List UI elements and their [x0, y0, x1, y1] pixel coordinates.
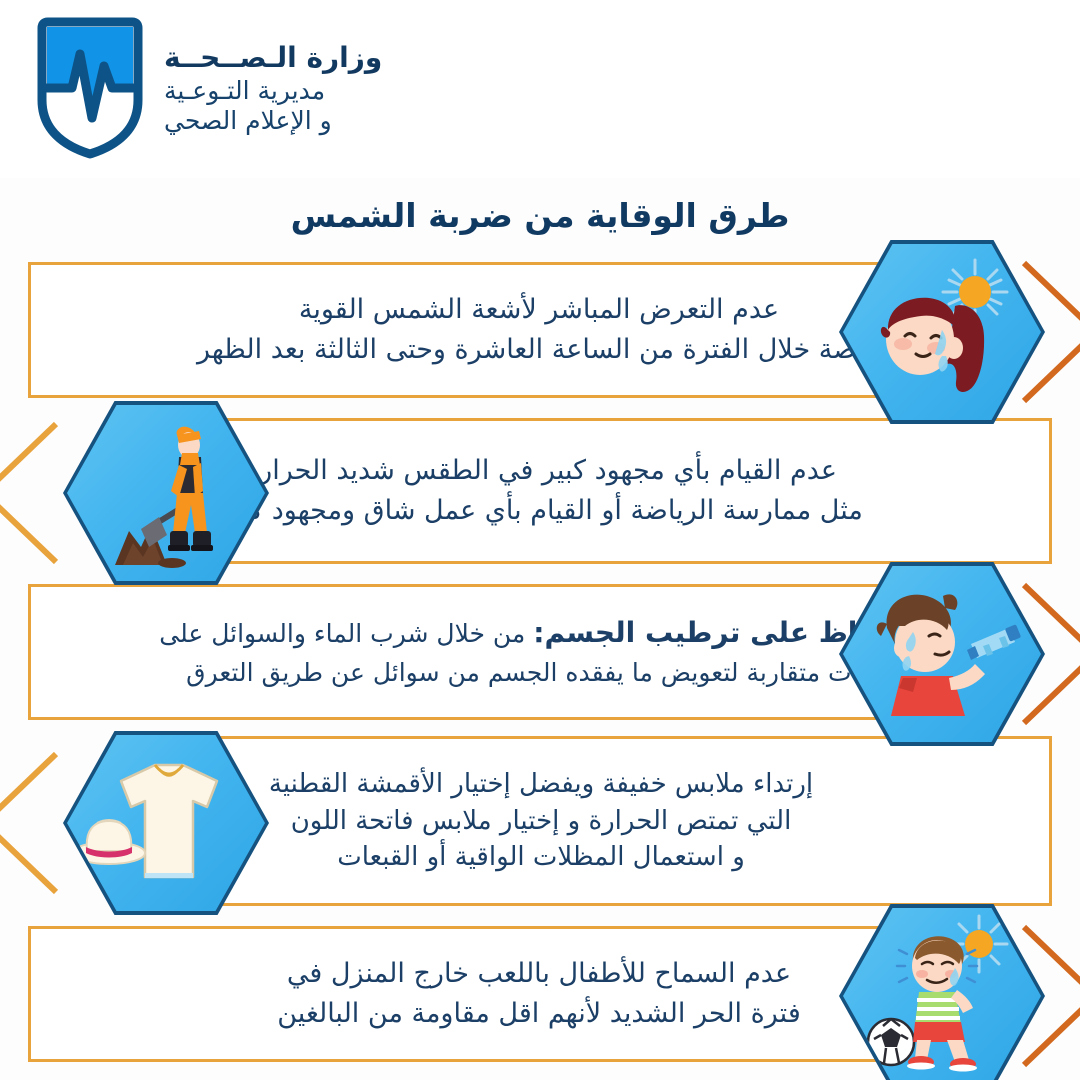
tip-5-line-2: فترة الحر الشديد لأنهم اقل مقاومة من الب… [141, 994, 937, 1035]
chevron-accent-icon [0, 418, 62, 568]
worker-with-shovel-icon [67, 405, 265, 581]
tip-5-line-1: عدم السماح للأطفال باللعب خارج المنزل في [141, 954, 937, 995]
tip-5-illustration [838, 920, 1046, 1072]
tip-row-5: عدم السماح للأطفال باللعب خارج المنزل في… [0, 920, 1080, 1072]
boy-glyph [877, 594, 985, 716]
girl-head-glyph [881, 298, 984, 392]
tip-row-3: الحفاظ على ترطيب الجسم: من خلال شرب الما… [0, 578, 1080, 730]
tip-1-line-1: عدم التعرض المباشر لأشعة الشمس القوية [141, 290, 937, 331]
tip-2-illustration [62, 412, 270, 574]
tip-row-4: إرتداء ملابس خفيفة ويفضل إختيار الأقمشة … [0, 730, 1080, 916]
tip-banner-5: عدم السماح للأطفال باللعب خارج المنزل في… [28, 926, 968, 1062]
girl-sweating-under-sun-icon [843, 244, 1041, 420]
tip-row-1: عدم التعرض المباشر لأشعة الشمس القوية خا… [0, 256, 1080, 408]
org-line-1: وزارة الـصــحــة [164, 41, 382, 75]
health-shield-heartbeat-icon [34, 14, 146, 164]
infographic-page: وزارة الـصــحــة مديرية التـوعـية و الإع… [0, 0, 1080, 1080]
tip-3-line-1: من خلال شرب الماء والسوائل على [159, 619, 533, 648]
tip-3-illustration [838, 578, 1046, 730]
water-bottle-glyph [967, 624, 1021, 660]
org-line-2: مديرية التـوعـية [164, 76, 325, 107]
worker-glyph [168, 427, 213, 551]
tshirt-and-hat-icon [67, 735, 265, 911]
chevron-accent-icon [0, 748, 62, 898]
org-name-block: وزارة الـصــحــة مديرية التـوعـية و الإع… [164, 41, 382, 136]
org-line-3: و الإعلام الصحي [164, 106, 332, 137]
tip-banner-3: الحفاظ على ترطيب الجسم: من خلال شرب الما… [28, 584, 968, 720]
tip-1-line-2: خاصة خلال الفترة من الساعة العاشرة وحتى … [141, 330, 937, 371]
page-title: طرق الوقاية من ضربة الشمس [0, 196, 1080, 235]
boy-drinking-water-bottle-icon [843, 566, 1041, 742]
tip-1-illustration [838, 256, 1046, 408]
logo-block: وزارة الـصــحــة مديرية التـوعـية و الإع… [34, 14, 382, 164]
page-header: وزارة الـصــحــة مديرية التـوعـية و الإع… [0, 0, 1080, 178]
tip-3-line-2: فترات متقاربة لتعويض ما يفقده الجسم من س… [141, 654, 937, 692]
tip-row-2: عدم القيام بأي مجهود كبير في الطقس شديد … [0, 412, 1080, 574]
tip-banner-1: عدم التعرض المباشر لأشعة الشمس القوية خا… [28, 262, 968, 398]
tip-4-illustration [62, 730, 270, 916]
